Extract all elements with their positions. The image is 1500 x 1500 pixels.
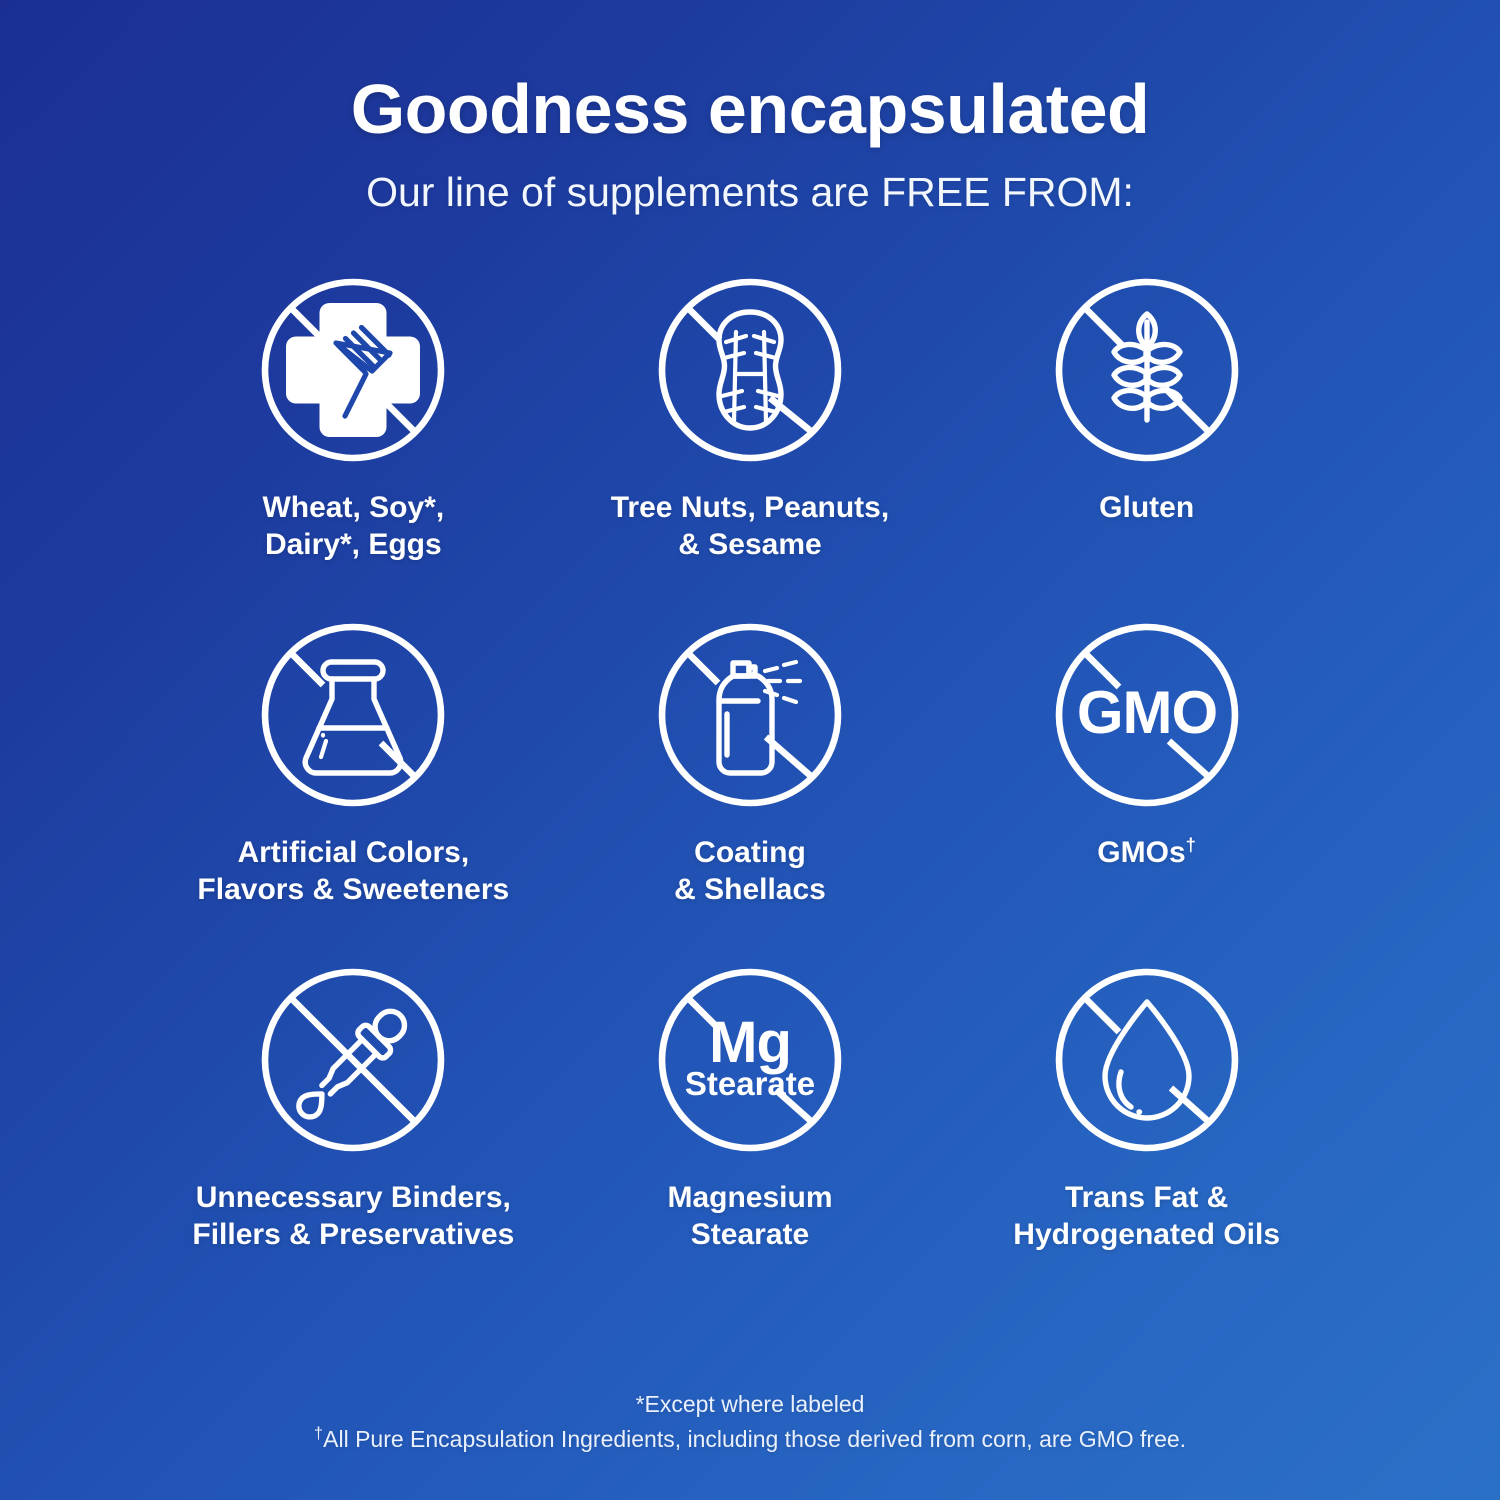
item-label: Unnecessary Binders, Fillers & Preservat… — [192, 1180, 514, 1254]
footnote-dagger-marker: † — [314, 1424, 323, 1443]
no-gmo-icon: GMO — [1047, 615, 1247, 815]
item-label: Tree Nuts, Peanuts, & Sesame — [611, 490, 889, 564]
free-from-item: Artificial Colors, Flavors & Sweeteners — [155, 615, 552, 960]
free-from-item: Unnecessary Binders, Fillers & Preservat… — [155, 960, 552, 1305]
no-dropper-icon — [253, 960, 453, 1160]
header: Goodness encapsulated Our line of supple… — [0, 0, 1500, 214]
page-title: Goodness encapsulated — [0, 74, 1500, 145]
stearate-badge-text: Stearate — [685, 1065, 815, 1102]
free-from-item: GMO GMOs† — [948, 615, 1345, 960]
footnote-asterisk: *Except where labeled — [0, 1387, 1500, 1423]
footnote-dagger-text: All Pure Encapsulation Ingredients, incl… — [323, 1426, 1186, 1452]
item-label: Magnesium Stearate — [667, 1180, 832, 1254]
no-magnesium-stearate-icon: Mg Stearate — [650, 960, 850, 1160]
free-from-grid: Wheat, Soy*, Dairy*, Eggs — [155, 270, 1345, 1305]
item-label-superscript: † — [1186, 834, 1196, 855]
item-label-text: GMOs — [1097, 836, 1185, 869]
item-label: Coating & Shellacs — [674, 835, 826, 909]
no-oil-droplet-icon — [1047, 960, 1247, 1160]
gmo-badge-text: GMO — [1076, 679, 1216, 746]
free-from-item: Gluten — [948, 270, 1345, 615]
free-from-item: Mg Stearate Magnesium Stearate — [552, 960, 949, 1305]
footnote-dagger: †All Pure Encapsulation Ingredients, inc… — [0, 1422, 1500, 1458]
item-label: GMOs† — [1097, 835, 1196, 872]
item-label: Wheat, Soy*, Dairy*, Eggs — [262, 490, 444, 564]
item-label: Artificial Colors, Flavors & Sweeteners — [197, 835, 509, 909]
no-flask-icon — [253, 615, 453, 815]
item-label: Trans Fat & Hydrogenated Oils — [1013, 1180, 1280, 1254]
free-from-infographic: Goodness encapsulated Our line of supple… — [0, 0, 1500, 1500]
free-from-item: Trans Fat & Hydrogenated Oils — [948, 960, 1345, 1305]
no-wheat-stalk-icon — [1047, 270, 1247, 470]
free-from-item: Coating & Shellacs — [552, 615, 949, 960]
item-label: Gluten — [1099, 490, 1194, 527]
free-from-item: Wheat, Soy*, Dairy*, Eggs — [155, 270, 552, 615]
no-cross-fork-icon — [253, 270, 453, 470]
no-peanut-icon — [650, 270, 850, 470]
page-subtitle: Our line of supplements are FREE FROM: — [0, 171, 1500, 214]
no-spray-can-icon — [650, 615, 850, 815]
free-from-item: Tree Nuts, Peanuts, & Sesame — [552, 270, 949, 615]
footnotes: *Except where labeled †All Pure Encapsul… — [0, 1387, 1500, 1458]
